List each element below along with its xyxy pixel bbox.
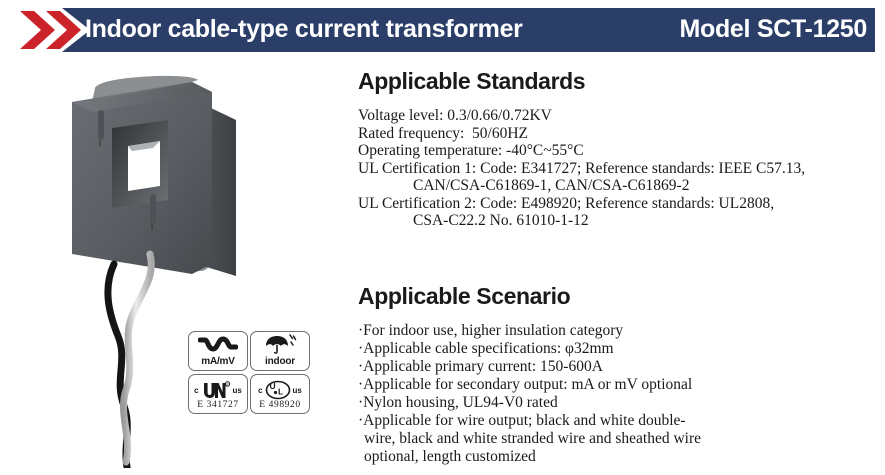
standards-lines: Voltage level: 0.3/0.66/0.72KV Rated fre…: [358, 107, 878, 230]
ul-circle-mark-icon: U L: [265, 380, 291, 400]
svg-text:U: U: [269, 381, 275, 391]
ul-mark-row: c R us: [189, 380, 247, 400]
scenario-line: ·Applicable for secondary output: mA or …: [358, 376, 878, 394]
scenario-heading: Applicable Scenario: [358, 283, 878, 310]
spec-line: Rated frequency: 50/60HZ: [358, 125, 878, 143]
badge-code: E 341727: [197, 400, 238, 413]
spec-line: Operating temperature: -40°C~55°C: [358, 142, 878, 160]
ul-left-marker: c: [194, 386, 198, 395]
standards-heading: Applicable Standards: [358, 68, 878, 95]
page-title: Indoor cable-type current transformer: [85, 15, 523, 44]
ct-aperture: [112, 120, 168, 208]
umbrella-rain-icon: [251, 332, 309, 356]
scenario-line: ·For indoor use, higher insulation categ…: [358, 322, 878, 340]
spec-line: Voltage level: 0.3/0.66/0.72KV: [358, 107, 878, 125]
badge-label: mA/mV: [201, 356, 234, 370]
ul-mark-row: c U L us: [251, 380, 309, 400]
ul-left-marker: c: [258, 386, 262, 395]
scenario-line: wire, black and white stranded wire and …: [358, 430, 878, 448]
output-type-badge: mA/mV: [188, 331, 248, 371]
badge-code: E 498920: [259, 400, 300, 413]
scenario-line: optional, length customized: [358, 448, 878, 466]
ul-ru-mark-icon: R: [201, 380, 231, 400]
spec-line: CSA-C22.2 No. 61010-1-12: [358, 212, 878, 230]
ul-recognized-badge: c R us E 341727: [188, 374, 248, 414]
ct-lead-wires: [108, 254, 151, 468]
scenario-line: ·Applicable for wire output; black and w…: [358, 412, 878, 430]
ul-right-marker: us: [293, 386, 302, 395]
badge-label: indoor: [265, 356, 295, 370]
page-header: Indoor cable-type current transformer Mo…: [0, 8, 885, 52]
svg-text:L: L: [278, 387, 283, 397]
scenario-line: ·Nylon housing, UL94-V0 rated: [358, 394, 878, 412]
scenario-line: ·Applicable cable specifications: φ32mm: [358, 340, 878, 358]
certification-badges: mA/mV indoor c R: [188, 331, 310, 414]
applicable-standards-section: Applicable Standards Voltage level: 0.3/…: [358, 68, 878, 230]
applicable-scenario-section: Applicable Scenario ·For indoor use, hig…: [358, 283, 878, 466]
scenario-lines: ·For indoor use, higher insulation categ…: [358, 322, 878, 466]
sine-wave-icon: [189, 332, 247, 356]
indoor-use-badge: indoor: [250, 331, 310, 371]
spec-line: CAN/CSA-C61869-1, CAN/CSA-C61869-2: [358, 177, 878, 195]
ul-right-marker: us: [233, 386, 242, 395]
spec-line: UL Certification 1: Code: E341727; Refer…: [358, 160, 878, 178]
scenario-line: ·Applicable primary current: 150-600A: [358, 358, 878, 376]
spec-line: UL Certification 2: Code: E498920; Refer…: [358, 195, 878, 213]
ul-listed-badge: c U L us E 498920: [250, 374, 310, 414]
model-label: Model SCT-1250: [679, 15, 867, 44]
